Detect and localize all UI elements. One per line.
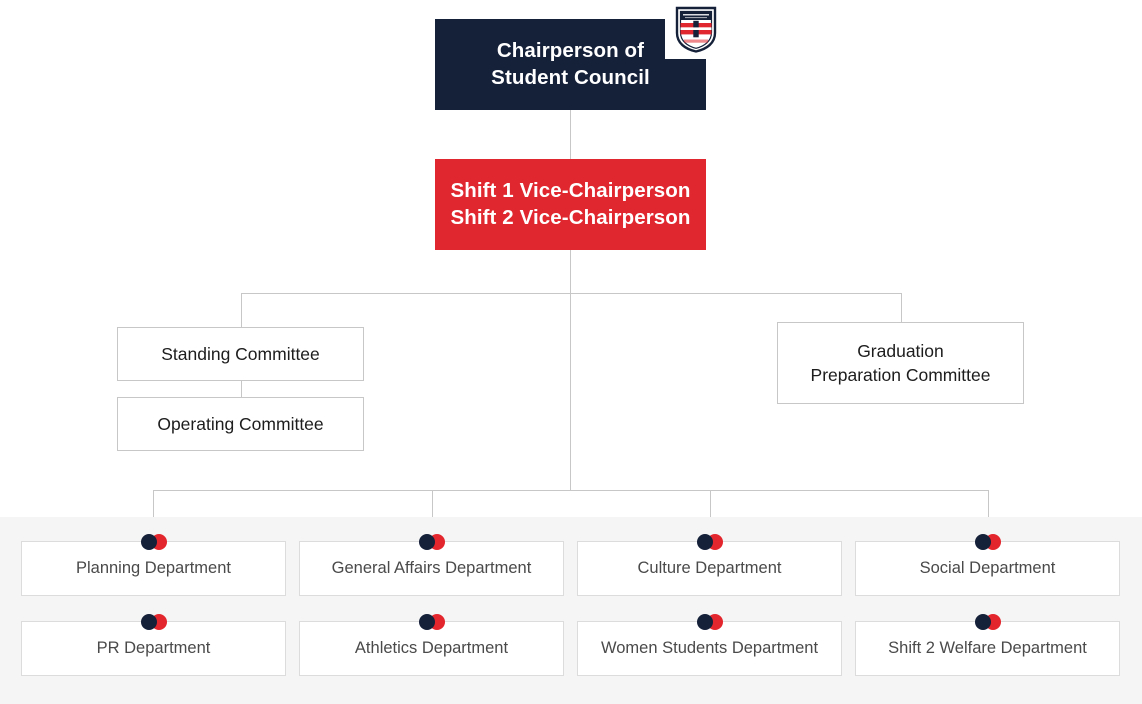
chairperson-label-line-2: Student Council (491, 65, 650, 91)
department-label: PR Department (97, 639, 211, 658)
department-card-women-students[interactable]: Women Students Department (577, 621, 842, 676)
standing-committee-label: Standing Committee (161, 342, 320, 366)
vice-chairperson-box[interactable]: Shift 1 Vice-Chairperson Shift 2 Vice-Ch… (435, 159, 706, 250)
graduation-committee-label-line-1: Graduation (811, 339, 991, 363)
graduation-preparation-committee-box[interactable]: Graduation Preparation Committee (777, 322, 1024, 404)
vice-chairperson-label-line-2: Shift 2 Vice-Chairperson (450, 205, 690, 231)
department-panel: Planning Department General Affairs Depa… (0, 517, 1142, 704)
department-marker-icon (419, 614, 445, 630)
org-chart: Chairperson of Student Council School sh… (0, 0, 1142, 704)
department-marker-icon (975, 614, 1001, 630)
operating-committee-label: Operating Committee (157, 412, 323, 436)
department-marker-icon (697, 534, 723, 550)
department-card-general-affairs[interactable]: General Affairs Department (299, 541, 564, 596)
connector-vice-stem-lower (570, 293, 571, 490)
department-card-culture[interactable]: Culture Department (577, 541, 842, 596)
standing-committee-box[interactable]: Standing Committee (117, 327, 364, 381)
school-crest-icon: School shield crest emblem (665, 0, 727, 59)
connector-to-graduation (901, 293, 902, 322)
connector-chair-to-vice (570, 110, 571, 159)
department-card-planning[interactable]: Planning Department (21, 541, 286, 596)
department-label: Athletics Department (355, 639, 508, 658)
connector-committee-bus (241, 293, 902, 294)
department-label: Social Department (920, 559, 1056, 578)
operating-committee-box[interactable]: Operating Committee (117, 397, 364, 451)
department-marker-icon (419, 534, 445, 550)
department-marker-icon (141, 534, 167, 550)
vice-chairperson-label-line-1: Shift 1 Vice-Chairperson (450, 178, 690, 204)
department-marker-icon (141, 614, 167, 630)
department-label: Women Students Department (601, 639, 818, 658)
department-label: Planning Department (76, 559, 231, 578)
department-label: Culture Department (638, 559, 782, 578)
department-card-social[interactable]: Social Department (855, 541, 1120, 596)
department-label: Shift 2 Welfare Department (888, 639, 1087, 658)
connector-to-standing (241, 293, 242, 327)
department-card-athletics[interactable]: Athletics Department (299, 621, 564, 676)
department-card-shift-2-welfare[interactable]: Shift 2 Welfare Department (855, 621, 1120, 676)
connector-vice-stem-upper (570, 250, 571, 293)
department-label: General Affairs Department (332, 559, 532, 578)
chairperson-label-line-1: Chairperson of (491, 38, 650, 64)
department-marker-icon (697, 614, 723, 630)
department-card-pr[interactable]: PR Department (21, 621, 286, 676)
department-marker-icon (975, 534, 1001, 550)
graduation-committee-label-line-2: Preparation Committee (811, 363, 991, 387)
connector-department-bus (153, 490, 988, 491)
connector-standing-to-operating (241, 381, 242, 397)
